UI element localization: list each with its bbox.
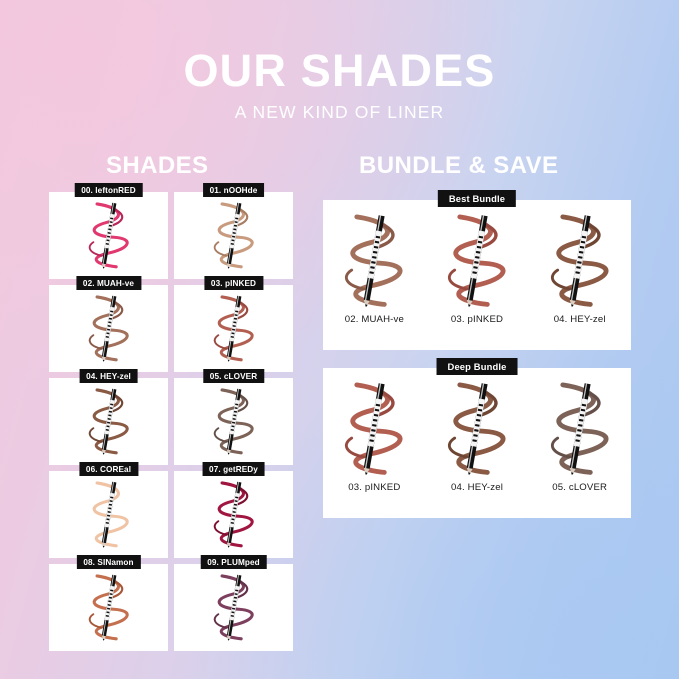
shade-label: 04. HEY-zel: [79, 369, 138, 383]
shade-swatch-art: [174, 471, 293, 558]
pencil-icon: [331, 378, 417, 481]
shade-card[interactable]: 03. pINKED: [174, 285, 293, 372]
shade-swatch-art: [49, 471, 168, 558]
pencil-icon: [434, 210, 520, 313]
shade-label: 02. MUAH-ve: [76, 276, 141, 290]
bundle-item-caption: 03. pINKED: [451, 314, 503, 325]
bundle-item[interactable]: 03. pINKED: [426, 200, 529, 350]
section-heading-bundle: BUNDLE & SAVE: [359, 152, 558, 180]
bundle-swatch-art: [537, 378, 623, 481]
shade-label: 01. nOOHde: [203, 183, 265, 197]
shade-swatch-art: [174, 285, 293, 372]
bundle-swatch-art: [331, 210, 417, 313]
shade-label: 06. COREal: [79, 462, 138, 476]
pencil-icon: [79, 199, 139, 273]
shade-card[interactable]: 02. MUAH-ve: [49, 285, 168, 372]
page-title: OUR SHADES: [0, 48, 679, 93]
bundle-item-caption: 04. HEY-zel: [451, 482, 503, 493]
bundle-swatch-art: [331, 378, 417, 481]
bundle-item-caption: 03. pINKED: [348, 482, 400, 493]
page-subtitle: A NEW KIND OF LINER: [0, 102, 679, 123]
shade-label: 00. leftonRED: [74, 183, 143, 197]
bundle-badge: Best Bundle: [438, 190, 516, 207]
shade-card[interactable]: 06. COREal: [49, 471, 168, 558]
header: OUR SHADES A NEW KIND OF LINER: [0, 48, 679, 123]
pencil-icon: [204, 199, 264, 273]
pencil-icon: [537, 378, 623, 481]
pencil-icon: [204, 571, 264, 645]
pencil-icon: [79, 571, 139, 645]
bundle-items: 02. MUAH-ve03. pINKED04. HEY-zel: [323, 200, 631, 350]
bundle-item[interactable]: 02. MUAH-ve: [323, 200, 426, 350]
shade-swatch-art: [49, 192, 168, 279]
bundle-item-caption: 02. MUAH-ve: [345, 314, 404, 325]
shade-label: 05. cLOVER: [203, 369, 264, 383]
pencil-icon: [79, 385, 139, 459]
pencil-icon: [204, 292, 264, 366]
section-heading-shades: SHADES: [106, 152, 208, 180]
shade-label: 09. PLUMped: [200, 555, 267, 569]
pencil-icon: [537, 210, 623, 313]
shade-swatch-art: [174, 378, 293, 465]
shade-label: 03. pINKED: [204, 276, 263, 290]
shade-swatch-art: [174, 192, 293, 279]
bundle-swatch-art: [434, 378, 520, 481]
shade-card[interactable]: 07. getREDy: [174, 471, 293, 558]
pencil-icon: [204, 385, 264, 459]
shade-card[interactable]: 08. SINamon: [49, 564, 168, 651]
pencil-icon: [204, 478, 264, 552]
bundle-item-caption: 05. cLOVER: [552, 482, 607, 493]
shade-swatch-art: [49, 564, 168, 651]
bundle-items: 03. pINKED04. HEY-zel05. cLOVER: [323, 368, 631, 518]
bundle-badge: Deep Bundle: [437, 358, 518, 375]
pencil-icon: [79, 478, 139, 552]
shade-card[interactable]: 00. leftonRED: [49, 192, 168, 279]
bundle-item[interactable]: 03. pINKED: [323, 368, 426, 518]
pencil-icon: [434, 378, 520, 481]
shade-label: 07. getREDy: [202, 462, 265, 476]
bundle-swatch-art: [434, 210, 520, 313]
bundle-card-best[interactable]: Best Bundle 02. MUAH-ve03. pINKED04. HEY…: [323, 200, 631, 350]
shade-card[interactable]: 04. HEY-zel: [49, 378, 168, 465]
pencil-icon: [331, 210, 417, 313]
shade-swatch-art: [49, 378, 168, 465]
shade-swatch-art: [49, 285, 168, 372]
shade-card[interactable]: 05. cLOVER: [174, 378, 293, 465]
bundle-item-caption: 04. HEY-zel: [554, 314, 606, 325]
bundle-item[interactable]: 04. HEY-zel: [426, 368, 529, 518]
shade-card[interactable]: 01. nOOHde: [174, 192, 293, 279]
bundle-card-deep[interactable]: Deep Bundle 03. pINKED04. HEY-zel05. cLO…: [323, 368, 631, 518]
pencil-icon: [79, 292, 139, 366]
shade-swatch-art: [174, 564, 293, 651]
bundle-swatch-art: [537, 210, 623, 313]
shade-card[interactable]: 09. PLUMped: [174, 564, 293, 651]
bundle-item[interactable]: 04. HEY-zel: [528, 200, 631, 350]
shades-grid: 00. leftonRED01. nOOHde02. MUAH-ve03. pI…: [49, 192, 293, 651]
shade-label: 08. SINamon: [76, 555, 140, 569]
bundle-item[interactable]: 05. cLOVER: [528, 368, 631, 518]
